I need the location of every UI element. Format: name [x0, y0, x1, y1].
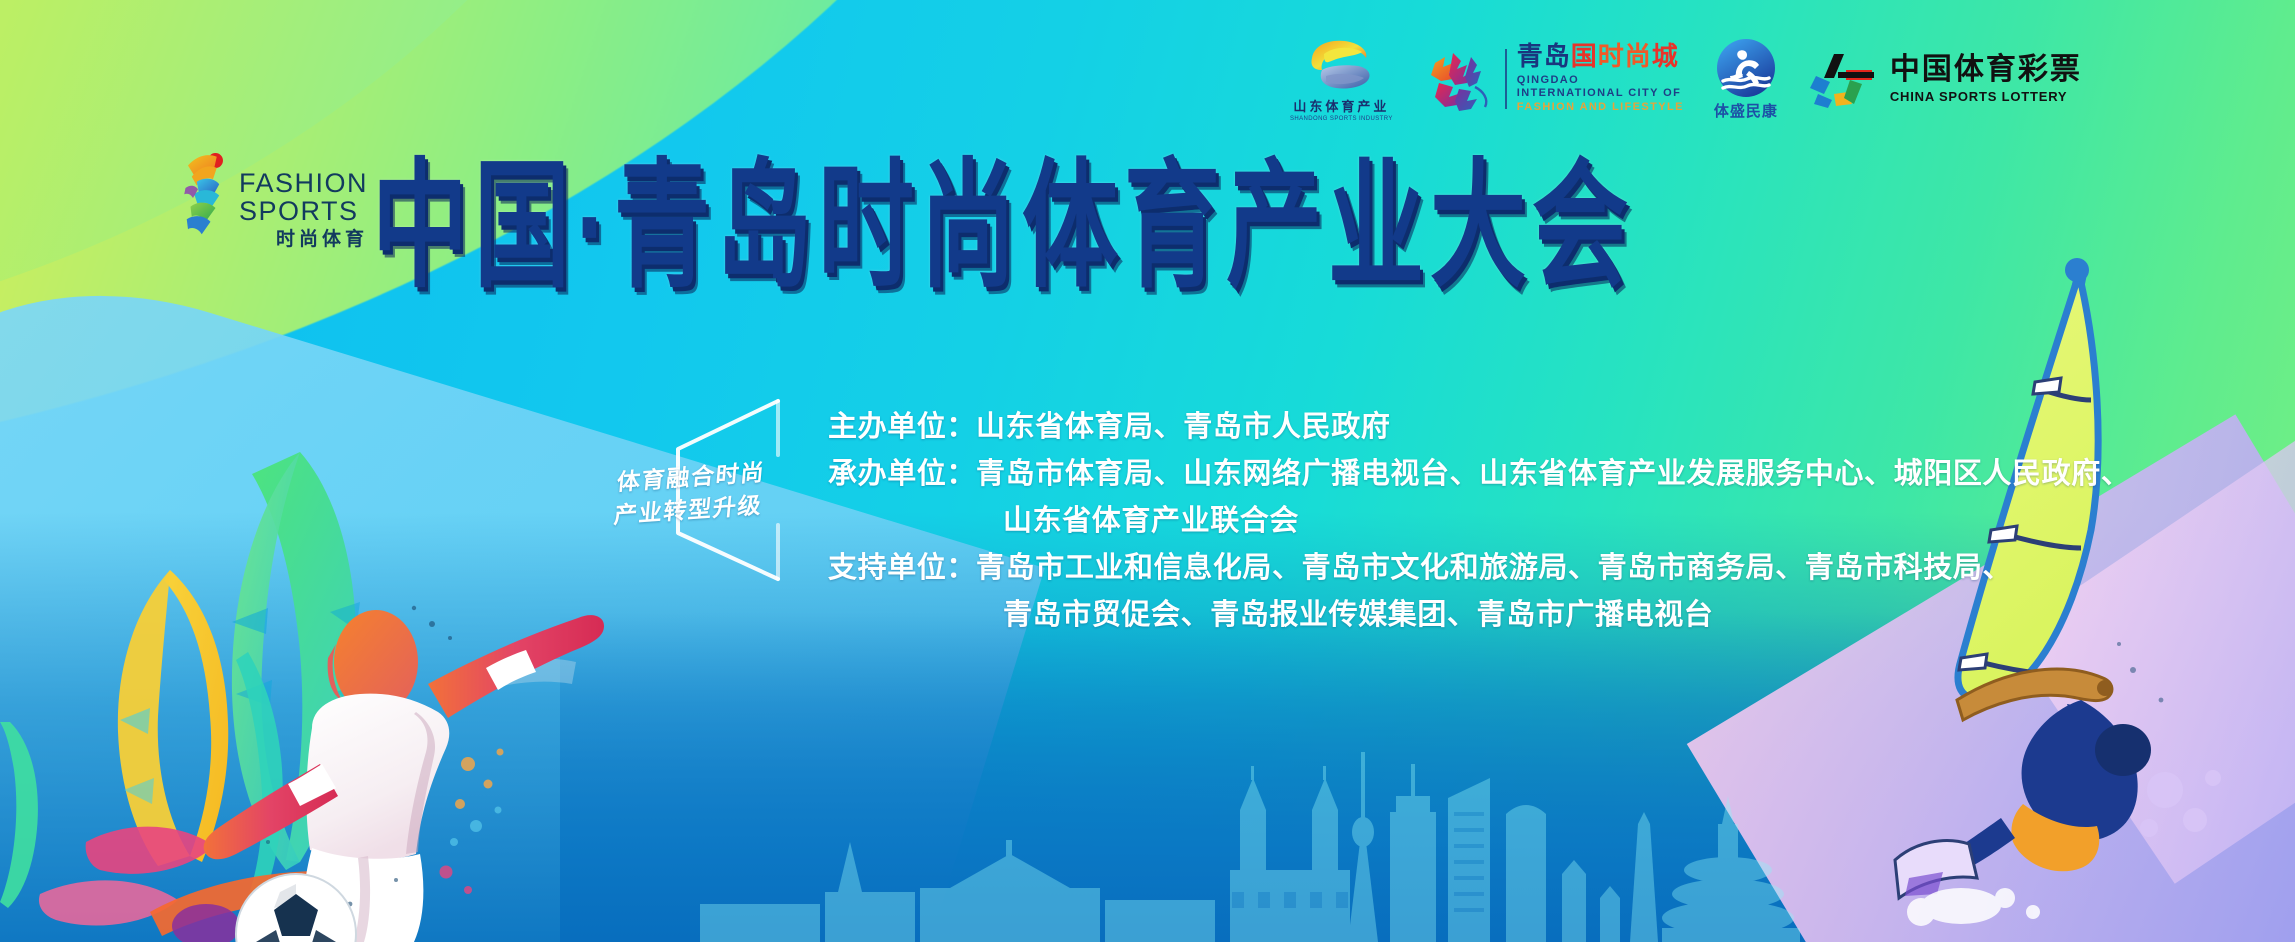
host-row: 主办单位： 山东省体育局、青岛市人民政府: [828, 404, 2130, 451]
organizer-value: 青岛市体育局、山东网络广播电视台、山东省体育产业发展服务中心、城阳区人民政府、: [976, 451, 2130, 498]
slogan-block: 体育融合时尚 产业转型升级: [600, 395, 825, 585]
qingdao-fashion-city-cn: 青岛国时尚城: [1517, 43, 1684, 70]
shandong-sports-industry-en: SHANDONG SPORTS INDUSTRY: [1290, 116, 1393, 122]
shandong-sports-industry-mark-icon: [1304, 36, 1378, 94]
event-logo-line1: FASHION: [239, 170, 368, 198]
shandong-sports-industry-cn: 山东体育产业: [1293, 96, 1389, 115]
supporter-value-cont: 青岛市贸促会、青岛报业传媒集团、青岛市广播电视台: [1003, 592, 2130, 639]
supporter-label: 支持单位：: [828, 545, 976, 592]
qingdao-fashion-city-mark-icon: [1423, 43, 1495, 115]
china-sports-lottery-mark-icon: [1808, 50, 1880, 108]
organizer-label: 承办单位：: [828, 451, 976, 498]
slogan-text: 体育融合时尚 产业转型升级: [612, 456, 766, 533]
fashion-sports-event-logo: FASHION SPORTS 时尚体育: [178, 118, 368, 268]
supporter-row-continued: 青岛市贸促会、青岛报业传媒集团、青岛市广播电视台: [828, 592, 2130, 639]
qingdao-fashion-city-en-line3: FASHION AND LIFESTYLE: [1517, 101, 1684, 115]
supporter-value: 青岛市工业和信息化局、青岛市文化和旅游局、青岛市商务局、青岛市科技局、: [976, 545, 2130, 592]
qingdao-skyline-silhouette: [700, 692, 1800, 942]
sponsor-logo-tisheng-minkang: 体盛民康: [1714, 37, 1778, 121]
organizer-row: 承办单位： 青岛市体育局、山东网络广播电视台、山东省体育产业发展服务中心、城阳区…: [828, 451, 2130, 498]
qingdao-fashion-city-en-line1: QINGDAO: [1517, 74, 1684, 88]
qingdao-logo-divider: [1505, 49, 1507, 109]
organizer-value-cont: 山东省体育产业联合会: [1003, 498, 2130, 545]
tisheng-minkang-cn: 体盛民康: [1714, 100, 1778, 121]
tisheng-minkang-mark-icon: [1715, 37, 1777, 99]
event-logo-line3: 时尚体育: [239, 230, 368, 249]
host-label: 主办单位：: [828, 404, 976, 451]
sponsor-logo-shandong-sports-industry: 山东体育产业 SHANDONG SPORTS INDUSTRY: [1290, 36, 1393, 122]
organizer-row-continued: 山东省体育产业联合会: [828, 498, 2130, 545]
sponsor-logo-strip: 山东体育产业 SHANDONG SPORTS INDUSTRY: [1290, 36, 2082, 122]
host-value: 山东省体育局、青岛市人民政府: [976, 404, 2130, 451]
soccer-ball-illustration: [232, 870, 360, 942]
fashion-sports-mark-icon: [178, 123, 233, 263]
supporter-row: 支持单位： 青岛市工业和信息化局、青岛市文化和旅游局、青岛市商务局、青岛市科技局…: [828, 545, 2130, 592]
sponsor-logo-china-sports-lottery: 中国体育彩票 CHINA SPORTS LOTTERY: [1808, 50, 2082, 108]
sponsor-logo-qingdao-fashion-city: 青岛国时尚城 QINGDAO INTERNATIONAL CITY OF FAS…: [1423, 43, 1684, 115]
qingdao-fashion-city-en-line2: INTERNATIONAL CITY OF: [1517, 87, 1684, 101]
page-title: 中国·青岛时尚体育产业大会: [372, 158, 1634, 297]
organizer-info-block: 主办单位： 山东省体育局、青岛市人民政府 承办单位： 青岛市体育局、山东网络广播…: [828, 404, 2130, 639]
event-banner: 山东体育产业 SHANDONG SPORTS INDUSTRY: [0, 0, 2295, 942]
china-sports-lottery-cn: 中国体育彩票: [1890, 55, 2082, 85]
event-logo-line2: SPORTS: [239, 198, 368, 226]
china-sports-lottery-en: CHINA SPORTS LOTTERY: [1890, 89, 2082, 104]
